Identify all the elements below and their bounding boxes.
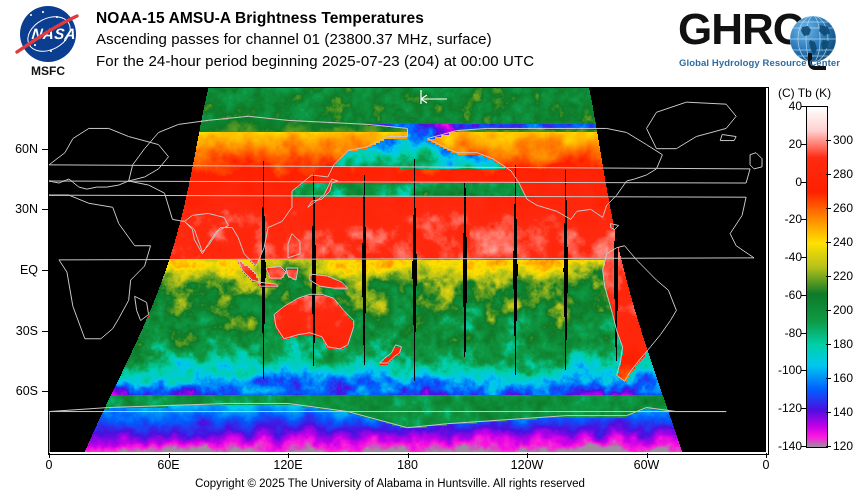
y-axis-tick — [42, 209, 48, 210]
colorbar-tick-kelvin — [826, 378, 831, 379]
colorbar-tick-kelvin — [826, 174, 831, 175]
colorbar-label-celsius: 40 — [768, 99, 802, 113]
page-title: NOAA-15 AMSU-A Brightness Temperatures — [96, 8, 686, 29]
ghrc-wordmark: GHRC — [678, 8, 804, 52]
x-axis-label: 60W — [634, 458, 660, 472]
colorbar-label-kelvin: 240 — [833, 235, 853, 249]
y-axis-label: 60S — [0, 384, 38, 398]
colorbar-label-celsius: -20 — [768, 212, 802, 226]
colorbar-label-kelvin: 160 — [833, 371, 853, 385]
colorbar-gradient — [806, 106, 828, 448]
x-axis-label: 0 — [46, 458, 53, 472]
x-axis-label: 0 — [763, 458, 770, 472]
brightness-temperature-map[interactable] — [49, 88, 766, 452]
colorbar-label-kelvin: 280 — [833, 167, 853, 181]
nasa-swoosh-icon — [15, 14, 79, 56]
colorbar-label-celsius: -60 — [768, 288, 802, 302]
colorbar-tick-kelvin — [826, 140, 831, 141]
title-block: NOAA-15 AMSU-A Brightness Temperatures A… — [96, 8, 686, 73]
ghrc-logo: GHRC Global Hydrology Resource Center — [678, 6, 838, 76]
colorbar-label-kelvin: 140 — [833, 405, 853, 419]
colorbar-label-celsius: 20 — [768, 137, 802, 151]
colorbar-label-celsius: 0 — [768, 175, 802, 189]
colorbar-tick-kelvin — [826, 412, 831, 413]
colorbar-label-celsius: -40 — [768, 250, 802, 264]
ghrc-subtitle: Global Hydrology Resource Center — [679, 58, 840, 69]
colorbar-tick-kelvin — [826, 242, 831, 243]
colorbar-tick-kelvin — [826, 276, 831, 277]
x-axis-label: 60E — [157, 458, 179, 472]
colorbar-tick-kelvin — [826, 208, 831, 209]
title-subline-channel: Ascending passes for channel 01 (23800.3… — [96, 29, 686, 51]
y-axis-label: EQ — [0, 263, 38, 277]
colorbar-label-kelvin: 300 — [833, 133, 853, 147]
x-axis-label: 120E — [273, 458, 302, 472]
colorbar-label-celsius: -100 — [768, 363, 802, 377]
title-subline-period: For the 24-hour period beginning 2025-07… — [96, 51, 686, 73]
colorbar-label-kelvin: 180 — [833, 337, 853, 351]
colorbar-header: (C) Tb (K) — [778, 86, 831, 100]
map-canvas[interactable] — [49, 88, 766, 452]
y-axis-label: 30N — [0, 202, 38, 216]
x-axis-label: 180 — [397, 458, 418, 472]
colorbar-label-celsius: -140 — [768, 439, 802, 453]
colorbar-label-kelvin: 120 — [833, 439, 853, 453]
y-axis-tick — [42, 270, 48, 271]
y-axis-tick — [42, 149, 48, 150]
y-axis-label: 60N — [0, 142, 38, 156]
y-axis-tick — [42, 391, 48, 392]
colorbar-tick-kelvin — [826, 344, 831, 345]
colorbar-label-celsius: -80 — [768, 326, 802, 340]
nasa-logo: NASA MSFC — [14, 6, 82, 82]
colorbar-tick-kelvin — [826, 310, 831, 311]
nasa-center-label: MSFC — [14, 64, 82, 78]
x-axis-label: 120W — [511, 458, 544, 472]
colorbar-label-kelvin: 260 — [833, 201, 853, 215]
y-axis-label: 30S — [0, 324, 38, 338]
y-axis-tick — [42, 331, 48, 332]
colorbar-label-kelvin: 200 — [833, 303, 853, 317]
copyright-notice: Copyright © 2025 The University of Alaba… — [0, 478, 780, 490]
colorbar-label-kelvin: 220 — [833, 269, 853, 283]
colorbar-tick-kelvin — [826, 446, 831, 447]
colorbar-label-celsius: -120 — [768, 401, 802, 415]
